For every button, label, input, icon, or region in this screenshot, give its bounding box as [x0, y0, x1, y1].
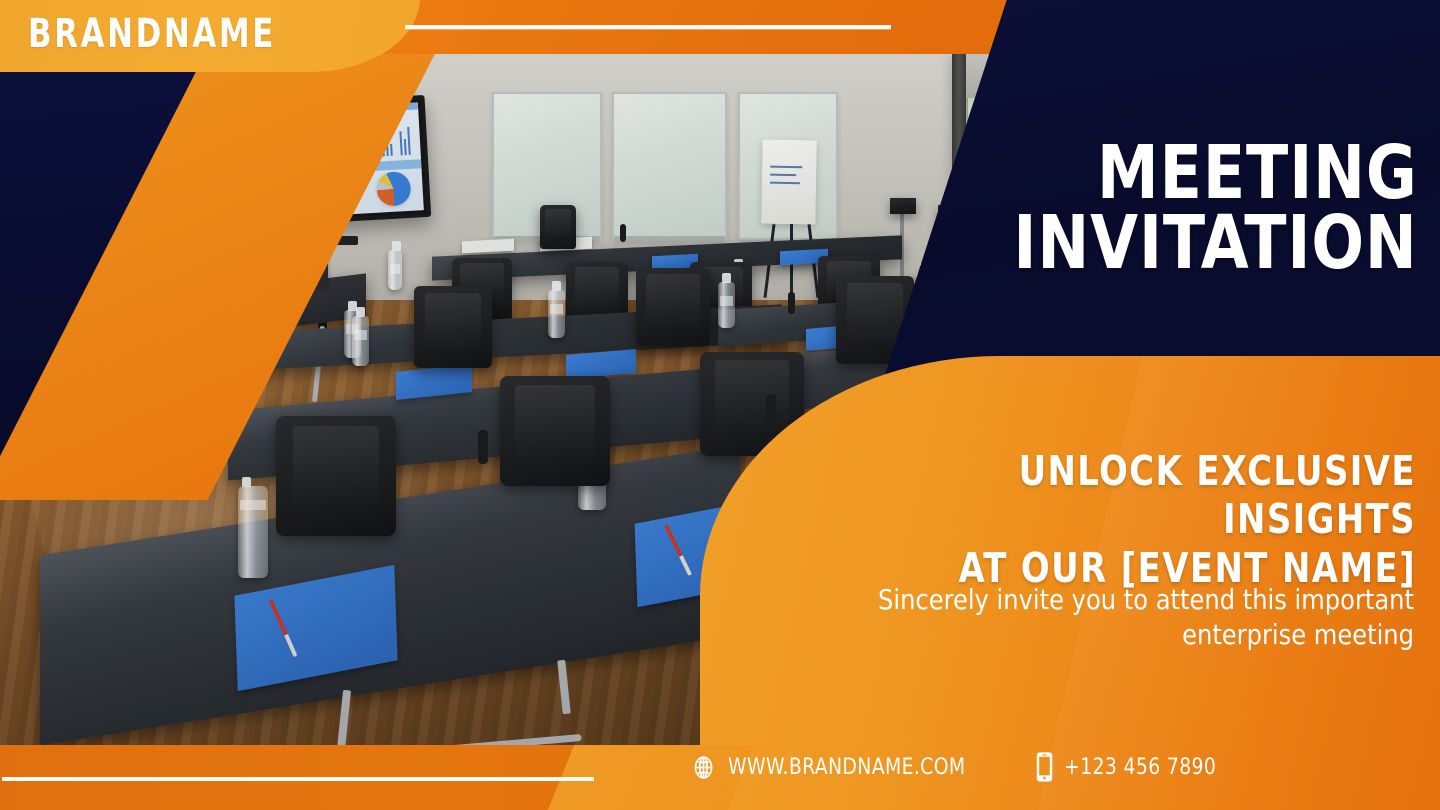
- contact-bar: WWW.BRANDNAME.COM +123 456 7890: [690, 752, 1224, 782]
- subtext-line-1: Sincerely invite you to attend this impo…: [878, 583, 1414, 616]
- headline-line-1: UNLOCK EXCLUSIVE INSIGHTS: [1019, 447, 1416, 543]
- brand-name: BRANDNAME: [28, 11, 276, 57]
- subtext-line-2: enterprise meeting: [800, 617, 1414, 652]
- footer-white-rule: [2, 777, 594, 781]
- page-title: MEETING INVITATION: [1014, 138, 1418, 279]
- top-white-rule: [405, 25, 891, 29]
- headline: UNLOCK EXCLUSIVE INSIGHTS AT OUR [EVENT …: [846, 447, 1416, 592]
- phone-text: +123 456 7890: [1064, 755, 1216, 780]
- subtext: Sincerely invite you to attend this impo…: [800, 582, 1414, 653]
- mobile-phone-icon: [1036, 752, 1053, 782]
- website-text: WWW.BRANDNAME.COM: [728, 755, 965, 780]
- meeting-invitation-poster: BRANDNAME MEETING INVITATION UNLOCK EXCL…: [0, 0, 1440, 810]
- title-line-2: INVITATION: [1014, 208, 1418, 278]
- contact-website[interactable]: WWW.BRANDNAME.COM: [690, 754, 978, 781]
- contact-phone[interactable]: +123 456 7890: [1036, 752, 1224, 782]
- globe-icon: [690, 754, 717, 781]
